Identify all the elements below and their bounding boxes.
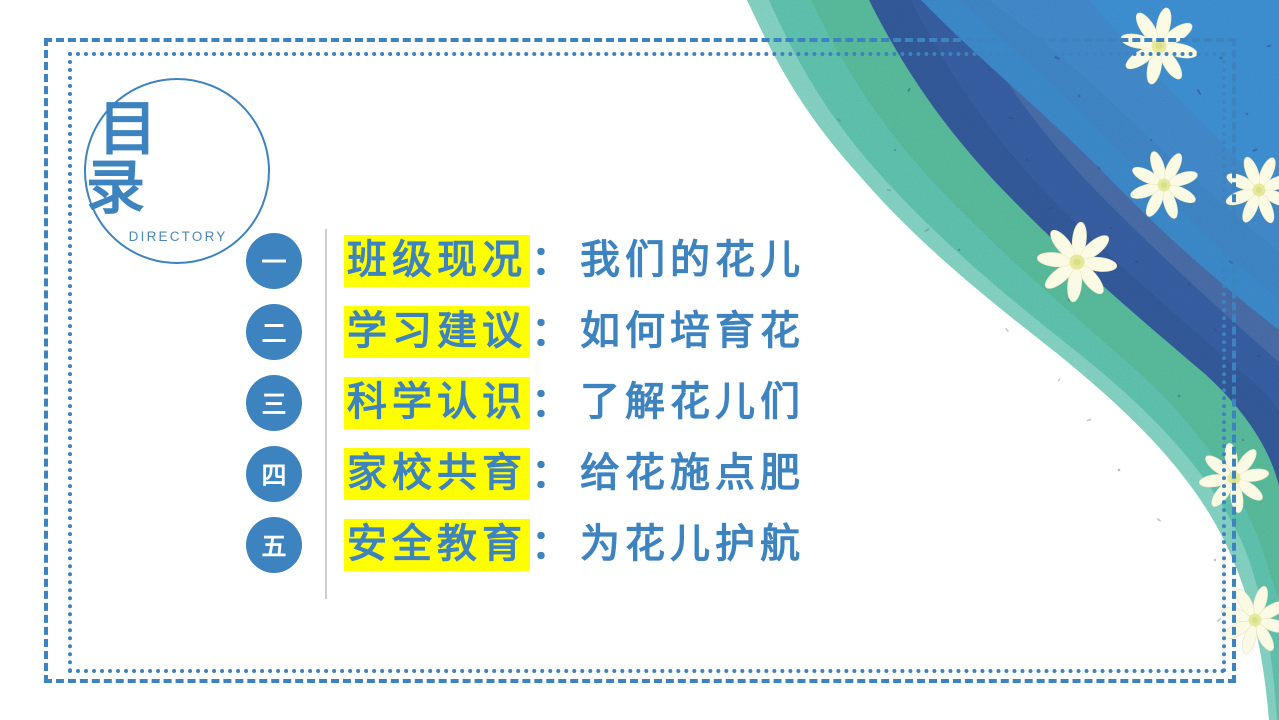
toc-topic-highlight: 科学认识 xyxy=(344,377,530,429)
list-item[interactable]: 二 学习建议：如何培育花 xyxy=(246,296,966,367)
toc-number-badge: 一 xyxy=(246,233,302,289)
toc-colon: ： xyxy=(530,241,580,281)
toc-detail: 我们的花儿 xyxy=(580,240,805,282)
toc-topic-highlight: 安全教育 xyxy=(344,519,530,571)
table-of-contents: 一 班级现况：我们的花儿 二 学习建议：如何培育花 三 科学认识：了解花儿们 四… xyxy=(246,225,966,580)
toc-colon: ： xyxy=(530,312,580,352)
toc-item-text: 家校共育：给花施点肥 xyxy=(344,448,805,500)
toc-topic-highlight: 学习建议 xyxy=(344,306,530,358)
page-subtitle: DIRECTORY xyxy=(126,229,227,244)
toc-number-badge: 四 xyxy=(246,446,302,502)
list-item[interactable]: 一 班级现况：我们的花儿 xyxy=(246,225,966,296)
toc-number-badge: 二 xyxy=(246,304,302,360)
toc-colon: ： xyxy=(530,525,580,565)
toc-detail: 了解花儿们 xyxy=(580,382,805,424)
toc-colon: ： xyxy=(530,454,580,494)
toc-detail: 如何培育花 xyxy=(580,311,805,353)
slide-canvas: 目 录 DIRECTORY 一 班级现况：我们的花儿 二 学习建议：如何培育花 … xyxy=(0,0,1279,720)
toc-item-text: 科学认识：了解花儿们 xyxy=(344,377,805,429)
page-title: 目 录 xyxy=(86,99,268,217)
toc-topic-highlight: 班级现况 xyxy=(344,235,530,287)
toc-item-text: 学习建议：如何培育花 xyxy=(344,306,805,358)
list-item[interactable]: 四 家校共育：给花施点肥 xyxy=(246,438,966,509)
toc-number-badge: 五 xyxy=(246,517,302,573)
directory-circle: 目 录 DIRECTORY xyxy=(84,78,270,264)
toc-item-text: 安全教育：为花儿护航 xyxy=(344,519,805,571)
toc-detail: 为花儿护航 xyxy=(580,524,805,566)
toc-detail: 给花施点肥 xyxy=(580,453,805,495)
list-item[interactable]: 三 科学认识：了解花儿们 xyxy=(246,367,966,438)
toc-item-text: 班级现况：我们的花儿 xyxy=(344,235,805,287)
toc-topic-highlight: 家校共育 xyxy=(344,448,530,500)
toc-number-badge: 三 xyxy=(246,375,302,431)
list-item[interactable]: 五 安全教育：为花儿护航 xyxy=(246,509,966,580)
toc-colon: ： xyxy=(530,383,580,423)
